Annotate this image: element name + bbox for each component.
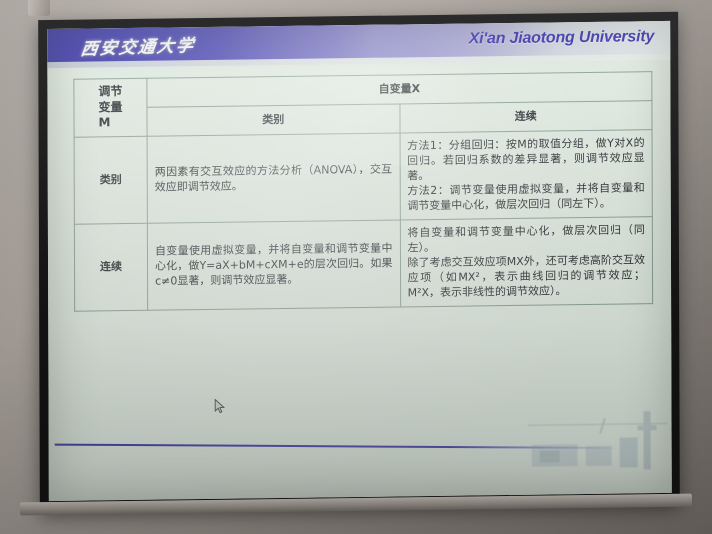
cell-line: 除了考虑交互效应项MX外，还可考虑高阶交互效应项（如MX²，表示曲线回归的调节效… [407,252,645,301]
footer-accent-line [55,444,620,449]
cell-categorical-continuous: 方法1：分组回归：按M的取值分组，做Y对X的回归。若回归系数的差异显著，则调节效… [400,129,653,219]
university-english-title: Xi'an Jiaotong University [469,28,655,48]
table-row: 类别 两因素有交互效应的方法分析（ANOVA），交互效应即调节效应。 方法1：分… [74,129,652,223]
cell-categorical-categorical: 两因素有交互效应的方法分析（ANOVA），交互效应即调节效应。 [147,133,400,223]
corner-line-1: 调节 [98,84,122,100]
cell-line: 方法1：分组回归：按M的取值分组，做Y对X的回归。若回归系数的差异显著，则调节效… [407,135,645,184]
cell-continuous-continuous: 将自变量和调节变量中心化，做层次回归（同左）。 除了考虑交互效应项MX外，还可考… [400,216,653,306]
university-chinese-logo: 西安交通大学 [79,31,197,60]
watermark-building-4 [620,437,638,467]
screen-mount-bracket [28,0,50,16]
watermark-horizon-line [528,423,668,426]
presentation-slide: 西安交通大学 Xi'an Jiaotong University 调节 变量 M [47,21,672,501]
corner-line-2: 变量 [98,100,122,116]
cell-line: 方法2：调节变量使用虚拟变量，并将自变量和调节变量中心化，做层次回归（同左下）。 [407,181,645,214]
cell-continuous-categorical: 自变量使用虚拟变量，并将自变量和调节变量中心化，做Y=aX+bM+cXM+e的层… [147,220,400,310]
lecture-room-photo: 西安交通大学 Xi'an Jiaotong University 调节 变量 M [0,0,712,534]
row-label-categorical: 类别 [74,136,147,224]
campus-watermark-image [528,409,668,473]
corner-header-cell: 调节 变量 M [74,78,147,137]
corner-line-3: M [98,115,122,131]
moderation-methods-table-container: 调节 变量 M 自变量X 类别 连续 类别 [73,71,653,311]
mouse-cursor-icon [214,399,225,414]
table-row: 连续 自变量使用虚拟变量，并将自变量和调节变量中心化，做Y=aX+bM+cXM+… [74,216,652,310]
moderation-methods-table: 调节 变量 M 自变量X 类别 连续 类别 [73,71,653,311]
subheader-categorical: 类别 [147,104,400,136]
watermark-pole [599,418,606,434]
corner-header-text: 调节 变量 M [98,84,122,131]
subheader-continuous: 连续 [399,101,652,133]
watermark-building-2 [540,450,560,462]
projection-screen-surface: 西安交通大学 Xi'an Jiaotong University 调节 变量 M [47,21,672,501]
watermark-tower [644,411,651,469]
watermark-tower-crossbar [638,425,657,430]
cell-line: 将自变量和调节变量中心化，做层次回归（同左）。 [407,222,645,255]
row-label-continuous: 连续 [74,223,147,311]
slide-header-banner: 西安交通大学 Xi'an Jiaotong University [47,21,670,63]
projection-screen-frame: 西安交通大学 Xi'an Jiaotong University 调节 变量 M [38,12,680,512]
